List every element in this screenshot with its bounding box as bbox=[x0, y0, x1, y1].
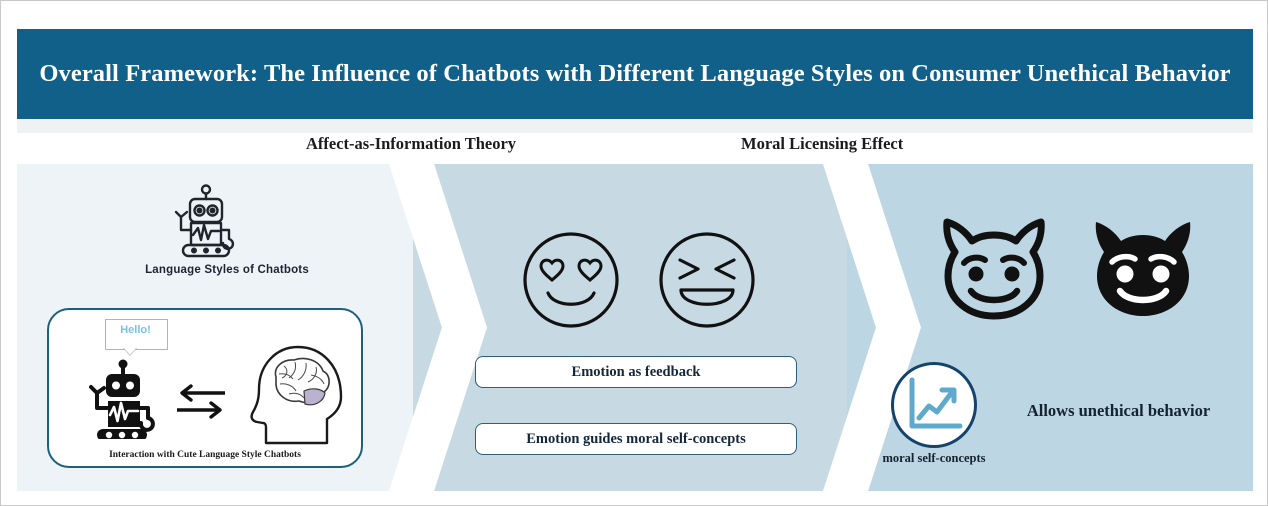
theory-label-affect-as-information: Affect-as-Information Theory bbox=[306, 134, 516, 154]
pill-emotion-guides-moral-self-concepts[interactable]: Emotion guides moral self-concepts bbox=[475, 423, 797, 455]
robot-outline-icon bbox=[169, 183, 243, 258]
framework-figure: Overall Framework: The Influence of Chat… bbox=[0, 0, 1268, 506]
speech-bubble-text: Hello! bbox=[105, 324, 166, 336]
robot-solid-icon bbox=[83, 359, 161, 439]
page-title: Overall Framework: The Influence of Chat… bbox=[39, 60, 1230, 88]
bidirectional-arrows-icon bbox=[173, 383, 229, 419]
speech-bubble-tail-icon bbox=[123, 347, 137, 355]
interaction-caption: Interaction with Cute Language Style Cha… bbox=[47, 450, 363, 460]
language-styles-label: Language Styles of Chatbots bbox=[17, 264, 437, 276]
squinting-laughing-face-icon bbox=[656, 229, 758, 331]
pill-emotion-as-feedback[interactable]: Emotion as feedback bbox=[475, 356, 797, 388]
theory-label-moral-licensing: Moral Licensing Effect bbox=[741, 134, 903, 154]
allows-unethical-behavior-label: Allows unethical behavior bbox=[1006, 401, 1231, 421]
header-underline-strip bbox=[17, 119, 1253, 133]
growth-chart-icon bbox=[904, 376, 964, 434]
devil-face-outline-icon bbox=[935, 212, 1053, 322]
moral-self-concepts-label: moral self-concepts bbox=[863, 451, 1005, 466]
header-bar: Overall Framework: The Influence of Chat… bbox=[17, 29, 1253, 119]
devil-face-filled-icon bbox=[1084, 212, 1202, 322]
heart-eyes-smiley-icon bbox=[520, 229, 622, 331]
head-brain-icon bbox=[249, 339, 343, 447]
